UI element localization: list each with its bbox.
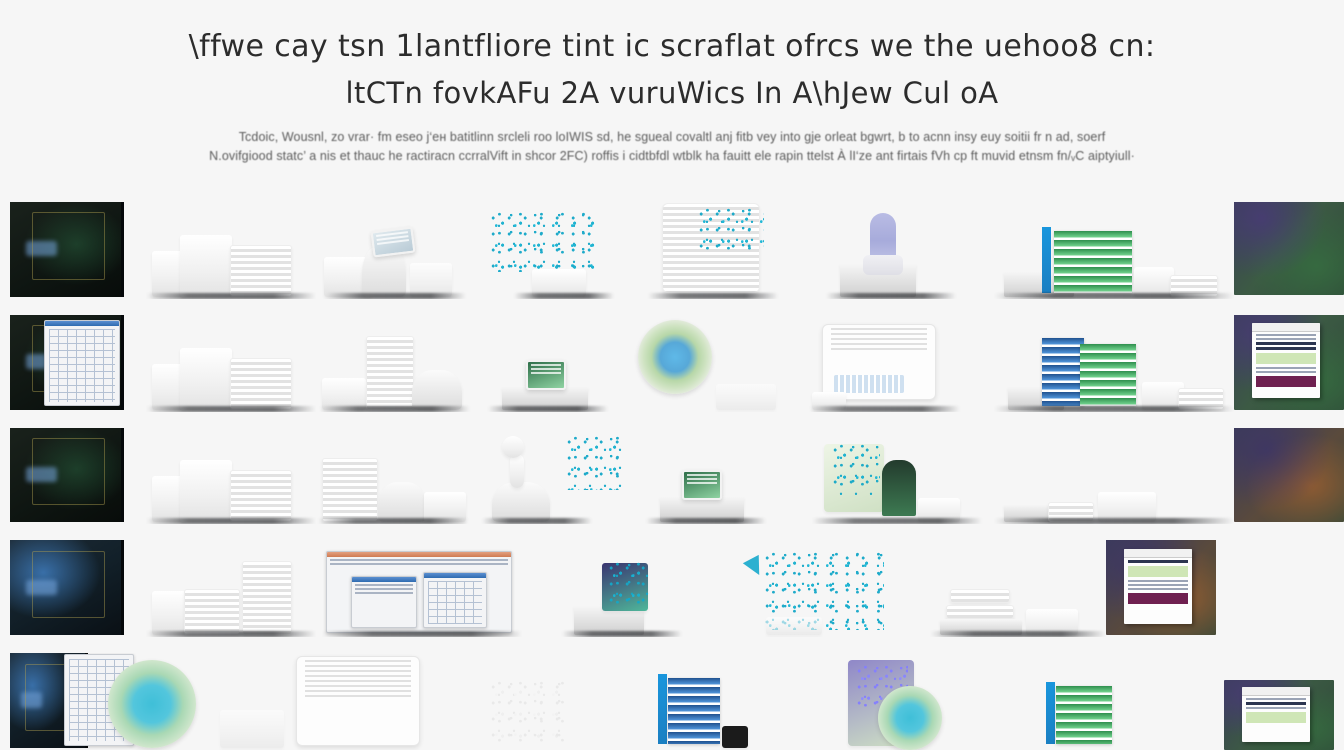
particle-swarm-icon <box>566 434 624 490</box>
particle-swarm-icon <box>608 560 650 604</box>
render-box <box>220 710 284 748</box>
grid-cell-r5c1[interactable] <box>0 653 200 750</box>
render-shadow <box>488 406 608 412</box>
render-shadow <box>646 518 766 524</box>
grid-cell-r3c2[interactable] <box>146 428 316 525</box>
render-shadow <box>320 406 470 412</box>
lens-ring <box>108 660 196 748</box>
grid-cell-r2c5[interactable] <box>624 315 794 412</box>
grid-cell-r1c1[interactable] <box>0 202 146 299</box>
header: \ffwe cay tsn 1lantfliore tint ic scrafl… <box>0 0 1344 166</box>
grid-cell-r2c2[interactable] <box>146 315 316 412</box>
grid-cell-r4c2[interactable] <box>146 540 316 637</box>
page-root: \ffwe cay tsn 1lantfliore tint ic scrafl… <box>0 0 1344 750</box>
render-shadow <box>826 293 956 299</box>
render-dark-blob <box>882 460 916 516</box>
render-slat-panel <box>184 589 240 635</box>
noise-tile <box>1234 315 1344 410</box>
subtitle-line-2: N.ovifgiood statc’ a nis et thauc he rac… <box>94 147 1250 166</box>
green-screen-monitor <box>682 470 722 500</box>
render-tower <box>366 336 414 410</box>
grid-cell-r1c5[interactable] <box>624 202 794 299</box>
document-sheet <box>822 324 936 400</box>
render-blob <box>378 482 426 522</box>
page-title-line-2: ltCTn fovkAFu 2A vuruWics In A\hJew Cul … <box>60 70 1284 116</box>
grid-cell-r1c4[interactable] <box>474 202 624 299</box>
grid-cell-r5c4[interactable] <box>640 653 820 750</box>
render-tray <box>950 589 1010 603</box>
dark-photo-tile <box>10 540 124 635</box>
lens-ring <box>878 686 942 750</box>
render-box <box>152 591 186 635</box>
blue-accent-bar <box>1046 682 1055 744</box>
grid-cell-r5c3[interactable] <box>450 653 640 750</box>
render-box <box>180 460 232 522</box>
subtitle-line-1: Tcdoic, Wousnl, zo vrar· fm eseo j‘ен ba… <box>94 128 1250 147</box>
grid-cell-r2c1[interactable] <box>0 315 146 412</box>
grid-cell-r3c4[interactable] <box>474 428 624 525</box>
render-shadow <box>994 518 1234 524</box>
render-shadow <box>318 518 468 524</box>
blue-louvre-stack <box>668 678 720 744</box>
image-grid <box>0 202 1344 750</box>
grid-cell-r2c7[interactable] <box>994 315 1234 412</box>
ui-window-thumbnail <box>44 320 120 406</box>
green-louvre-stack <box>1056 686 1112 744</box>
render-box <box>180 235 232 297</box>
grid-cell-r2c8[interactable] <box>1234 315 1344 412</box>
grid-row <box>0 653 1344 750</box>
ui-window-thumbnail <box>326 551 512 633</box>
document-thumbnail <box>1252 323 1320 398</box>
render-tray <box>946 605 1014 619</box>
blue-accent-bar <box>658 674 667 744</box>
render-slat-panel <box>230 245 292 297</box>
render-tower <box>322 458 378 522</box>
render-blob <box>412 370 462 410</box>
render-shadow <box>930 631 1106 637</box>
grid-cell-r1c2[interactable] <box>146 202 316 299</box>
document-thumbnail <box>1124 549 1192 624</box>
render-shadow <box>482 518 592 524</box>
render-box <box>716 384 776 410</box>
grid-cell-r4c1[interactable] <box>0 540 146 637</box>
render-shadow <box>648 293 778 299</box>
noise-tile <box>1224 680 1334 750</box>
render-slat-panel <box>230 470 292 522</box>
grid-cell-r1c8[interactable] <box>1234 202 1344 299</box>
ui-window-inner <box>423 572 487 628</box>
render-shadow <box>994 293 1234 299</box>
grid-row <box>0 202 1344 299</box>
grid-cell-r5c2[interactable] <box>200 653 450 750</box>
render-shadow <box>146 518 316 524</box>
render-slat-panel <box>230 358 292 410</box>
lens-ring <box>638 320 712 394</box>
dark-photo-tile <box>10 428 124 523</box>
render-shadow <box>810 406 960 412</box>
render-dark-box <box>722 726 748 748</box>
grid-cell-r3c7[interactable] <box>994 428 1234 525</box>
grid-row <box>0 540 1344 637</box>
render-shadow <box>994 406 1234 412</box>
grid-cell-r5c7[interactable] <box>1210 653 1334 750</box>
grid-cell-r4c7[interactable] <box>1106 540 1216 637</box>
grid-cell-r5c5[interactable] <box>820 653 1010 750</box>
green-screen-monitor <box>526 360 566 390</box>
document-thumbnail <box>1242 687 1310 742</box>
figure-silhouette <box>870 213 896 275</box>
ui-window-inner <box>351 576 417 628</box>
grid-cell-r3c8[interactable] <box>1234 428 1344 525</box>
render-shadow <box>146 406 316 412</box>
render-shadow <box>322 631 522 637</box>
grid-cell-r4c5[interactable] <box>716 540 926 637</box>
render-blob <box>492 482 550 522</box>
render-tower <box>242 561 292 635</box>
page-title-line-1: \ffwe cay tsn 1lantfliore tint ic scrafl… <box>60 24 1284 70</box>
render-box <box>180 348 232 410</box>
noise-tile <box>1106 540 1216 635</box>
grid-cell-r1c6[interactable] <box>794 202 994 299</box>
render-arm <box>510 454 524 488</box>
dark-photo-tile <box>10 202 124 297</box>
noise-tile <box>1234 428 1344 523</box>
grid-row <box>0 315 1344 412</box>
grid-cell-r1c3[interactable] <box>316 202 474 299</box>
render-box <box>410 263 452 297</box>
grid-cell-r2c3[interactable] <box>316 315 474 412</box>
render-shadow <box>562 631 682 637</box>
teal-screen <box>371 226 416 257</box>
grid-cell-r4c3[interactable] <box>316 540 546 637</box>
particle-swarm-icon <box>698 206 764 250</box>
particle-swarm-icon <box>832 442 880 496</box>
grid-cell-r2c4[interactable] <box>474 315 624 412</box>
noise-tile <box>1234 202 1344 295</box>
grid-cell-r3c6[interactable] <box>794 428 994 525</box>
grid-cell-r3c1[interactable] <box>0 428 146 525</box>
particle-swarm-icon <box>490 210 600 272</box>
green-louvre-stack <box>1080 344 1136 406</box>
render-shadow <box>326 293 466 299</box>
render-box <box>766 617 822 635</box>
grid-cell-r2c6[interactable] <box>794 315 994 412</box>
grid-row <box>0 428 1344 525</box>
blue-accent-bar <box>1042 227 1051 293</box>
render-shadow <box>146 293 316 299</box>
grid-cell-r3c3[interactable] <box>316 428 474 525</box>
grid-cell-r3c5[interactable] <box>624 428 794 525</box>
grid-cell-r4c4[interactable] <box>546 540 716 637</box>
white-dot-cloud <box>490 679 570 747</box>
blue-louvre-stack <box>1042 338 1084 406</box>
grid-cell-r5c6[interactable] <box>1010 653 1210 750</box>
document-sheet <box>296 656 420 746</box>
render-shadow <box>146 631 316 637</box>
render-shadow <box>514 293 614 299</box>
grid-cell-r1c7[interactable] <box>994 202 1234 299</box>
green-louvre-stack <box>1054 231 1132 293</box>
grid-cell-r4c6[interactable] <box>926 540 1106 637</box>
render-shadow <box>812 518 982 524</box>
subtitle: Tcdoic, Wousnl, zo vrar· fm eseo j‘ен ba… <box>60 128 1284 166</box>
